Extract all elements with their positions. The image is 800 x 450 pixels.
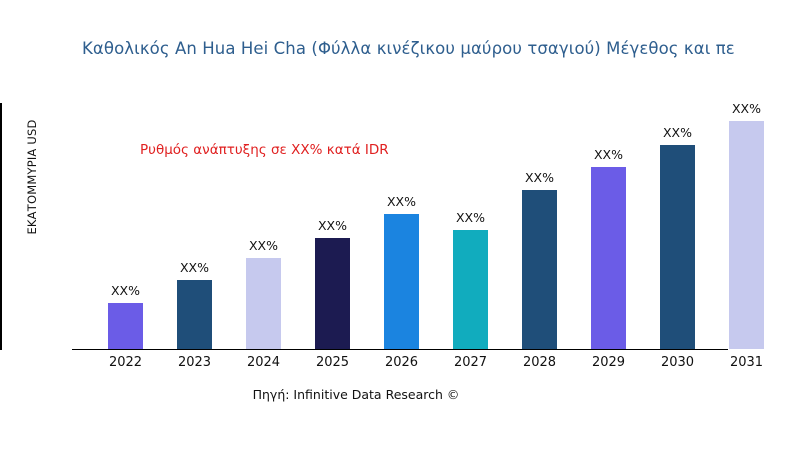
chart-figure: Καθολικός An Hua Hei Cha (Φύλλα κινέζικο… (0, 0, 800, 450)
x-tick-2031: 2031 (712, 355, 782, 370)
x-tick-2030: 2030 (643, 355, 713, 370)
bar-2028[interactable] (522, 190, 557, 349)
bar-value-label-2024: XX% (229, 238, 299, 253)
source-note: Πηγή: Infinitive Data Research © (0, 387, 712, 402)
bar-value-label-2030: XX% (643, 125, 713, 140)
bar-2025[interactable] (315, 238, 350, 349)
bar-2029[interactable] (591, 167, 626, 349)
y-axis-label: ΕΚΑΤΟΜΜΥΡΙΑ USD (25, 77, 39, 277)
bar-2030[interactable] (660, 145, 695, 349)
bar-2027[interactable] (453, 230, 488, 349)
x-tick-2029: 2029 (574, 355, 644, 370)
bar-value-label-2022: XX% (91, 283, 161, 298)
growth-rate-annotation: Ρυθμός ανάπτυξης σε XX% κατά IDR (140, 142, 389, 158)
bar-value-label-2028: XX% (505, 170, 575, 185)
bar-2022[interactable] (108, 303, 143, 349)
x-tick-2025: 2025 (298, 355, 368, 370)
bar-value-label-2031: XX% (712, 101, 782, 116)
x-tick-2028: 2028 (505, 355, 575, 370)
x-tick-2027: 2027 (436, 355, 506, 370)
y-axis-line (0, 103, 2, 350)
bar-value-label-2023: XX% (160, 260, 230, 275)
x-tick-2022: 2022 (91, 355, 161, 370)
bar-2024[interactable] (246, 258, 281, 349)
x-tick-2026: 2026 (367, 355, 437, 370)
bar-value-label-2027: XX% (436, 210, 506, 225)
x-tick-2024: 2024 (229, 355, 299, 370)
page-title: Καθολικός An Hua Hei Cha (Φύλλα κινέζικο… (82, 38, 800, 60)
bar-value-label-2026: XX% (367, 194, 437, 209)
bar-value-label-2025: XX% (298, 218, 368, 233)
bar-2023[interactable] (177, 280, 212, 349)
bar-2031[interactable] (729, 121, 764, 349)
bar-value-label-2029: XX% (574, 147, 644, 162)
bar-2026[interactable] (384, 214, 419, 349)
x-tick-2023: 2023 (160, 355, 230, 370)
